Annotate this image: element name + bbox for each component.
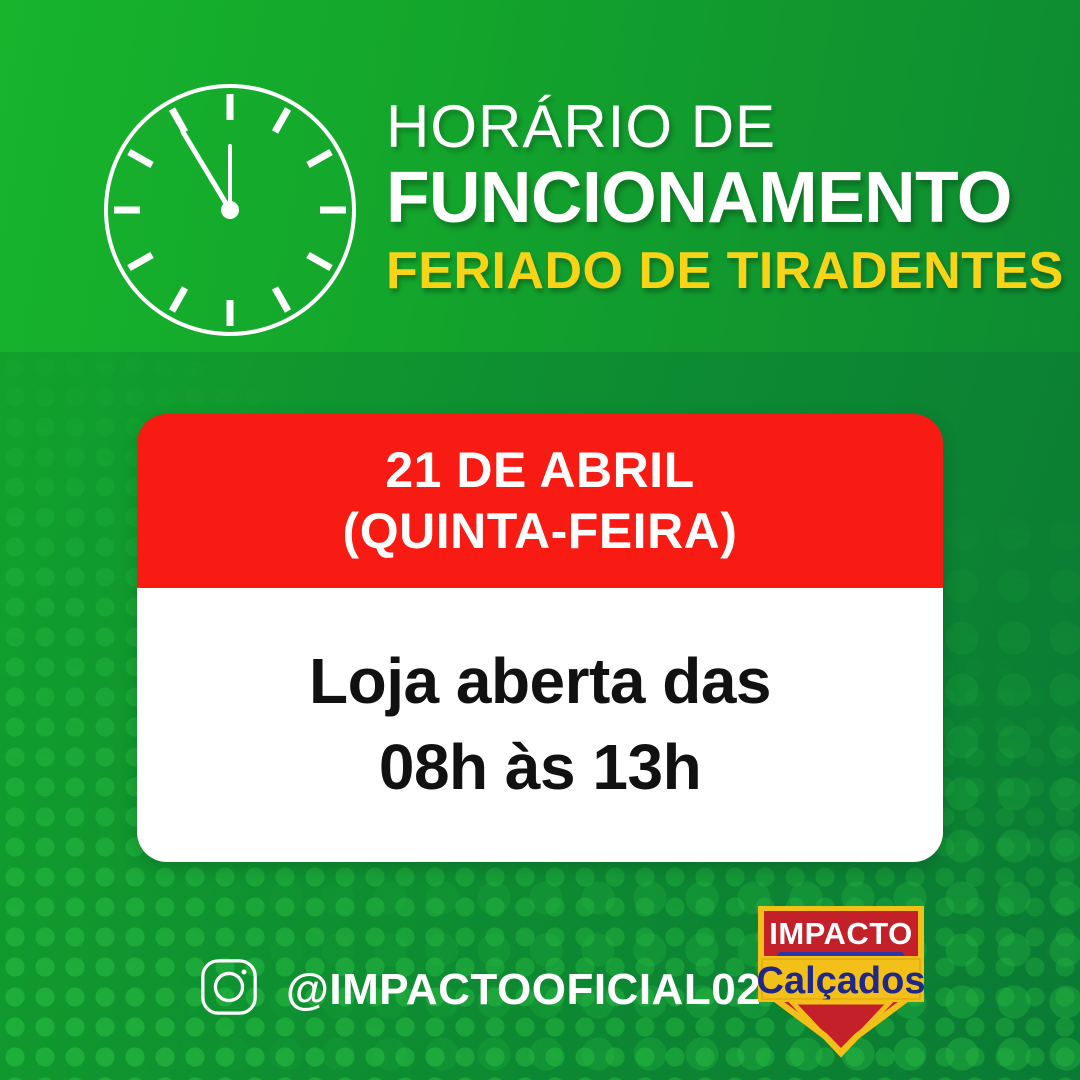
clock-icon — [96, 76, 364, 344]
header-title-line2: FUNCIONAMENTO — [386, 161, 1000, 236]
card-hours-line2: 08h às 13h — [379, 725, 701, 811]
logo-top-text: IMPACTO — [769, 916, 913, 951]
header-banner: HORÁRIO DE FUNCIONAMENTO FERIADO DE TIRA… — [0, 0, 1080, 352]
card-date-line1: 21 DE ABRIL — [385, 440, 694, 501]
poster-canvas: HORÁRIO DE FUNCIONAMENTO FERIADO DE TIRA… — [0, 0, 1080, 1080]
card-hours-line1: Loja aberta das — [309, 639, 771, 725]
header-subtitle: FERIADO DE TIRADENTES — [386, 244, 1006, 299]
header-text-block: HORÁRIO DE FUNCIONAMENTO FERIADO DE TIRA… — [386, 96, 1006, 299]
card-date-header: 21 DE ABRIL (QUINTA-FEIRA) — [137, 414, 943, 588]
header-title-line1: HORÁRIO DE — [386, 96, 1006, 157]
instagram-block[interactable]: @IMPACTOOFICIAL02 — [198, 956, 761, 1023]
impacto-calcados-logo: IMPACTO Calçados — [748, 898, 934, 1058]
logo-bottom-text: Calçados — [757, 960, 926, 1002]
instagram-icon — [198, 956, 260, 1023]
instagram-handle: @IMPACTOOFICIAL02 — [286, 965, 761, 1015]
card-date-line2: (QUINTA-FEIRA) — [343, 501, 738, 562]
schedule-card: 21 DE ABRIL (QUINTA-FEIRA) Loja aberta d… — [137, 414, 943, 862]
card-hours-body: Loja aberta das 08h às 13h — [137, 588, 943, 862]
